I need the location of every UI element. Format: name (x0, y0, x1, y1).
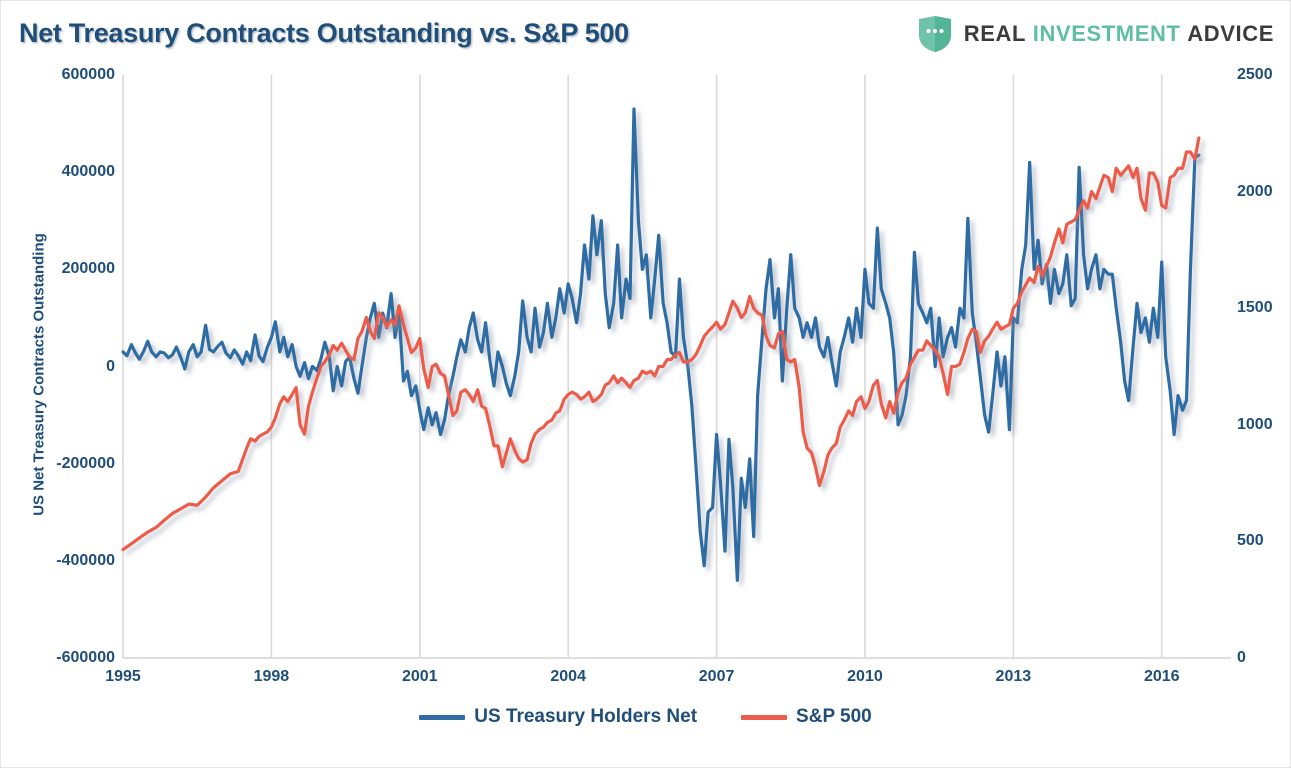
legend-swatch-treasury (419, 715, 465, 720)
x-tick-2016: 2016 (1144, 668, 1180, 686)
y-tick-left-2: -200000 (7, 455, 115, 473)
y-tick-left-5: 400000 (7, 163, 115, 181)
x-tick-2001: 2001 (402, 668, 438, 686)
y-tick-right-5: 2500 (1237, 66, 1291, 84)
y-tick-right-2: 1000 (1237, 416, 1291, 434)
wordmark-investment: INVESTMENT (1033, 21, 1181, 46)
y-tick-right-4: 2000 (1237, 183, 1291, 201)
x-tick-2004: 2004 (550, 668, 586, 686)
legend-item-treasury[interactable]: US Treasury Holders Net (419, 706, 697, 728)
legend-label-treasury: US Treasury Holders Net (474, 706, 697, 728)
chart-legend: US Treasury Holders Net S&P 500 (1, 706, 1290, 728)
shield-dots-icon (918, 15, 952, 53)
x-tick-2013: 2013 (996, 668, 1032, 686)
y-tick-right-0: 0 (1237, 649, 1291, 667)
legend-swatch-sp500 (741, 715, 787, 720)
legend-label-sp500: S&P 500 (796, 706, 872, 728)
brand-logo: REAL INVESTMENT ADVICE (918, 15, 1274, 53)
y-axis-right-ticks: 05001000150020002500 (1237, 1, 1291, 768)
data-series (123, 109, 1199, 580)
y-tick-left-4: 200000 (7, 260, 115, 278)
plot-area (123, 75, 1231, 658)
y-axis-left-ticks: -600000-400000-2000000200000400000600000 (1, 1, 115, 768)
x-tick-2007: 2007 (699, 668, 735, 686)
y-tick-left-1: -400000 (7, 552, 115, 570)
y-tick-left-0: -600000 (7, 649, 115, 667)
y-tick-right-1: 500 (1237, 532, 1291, 550)
y-tick-left-6: 600000 (7, 66, 115, 84)
x-tick-2010: 2010 (847, 668, 883, 686)
legend-item-sp500[interactable]: S&P 500 (741, 706, 872, 728)
chart-page: Net Treasury Contracts Outstanding vs. S… (0, 0, 1291, 768)
y-tick-right-3: 1500 (1237, 299, 1291, 317)
series-line-treasury (123, 109, 1199, 580)
x-tick-1998: 1998 (254, 668, 290, 686)
wordmark-real: REAL (964, 21, 1026, 46)
y-tick-left-3: 0 (7, 358, 115, 376)
x-tick-1995: 1995 (105, 668, 141, 686)
brand-wordmark: REAL INVESTMENT ADVICE (964, 23, 1274, 45)
